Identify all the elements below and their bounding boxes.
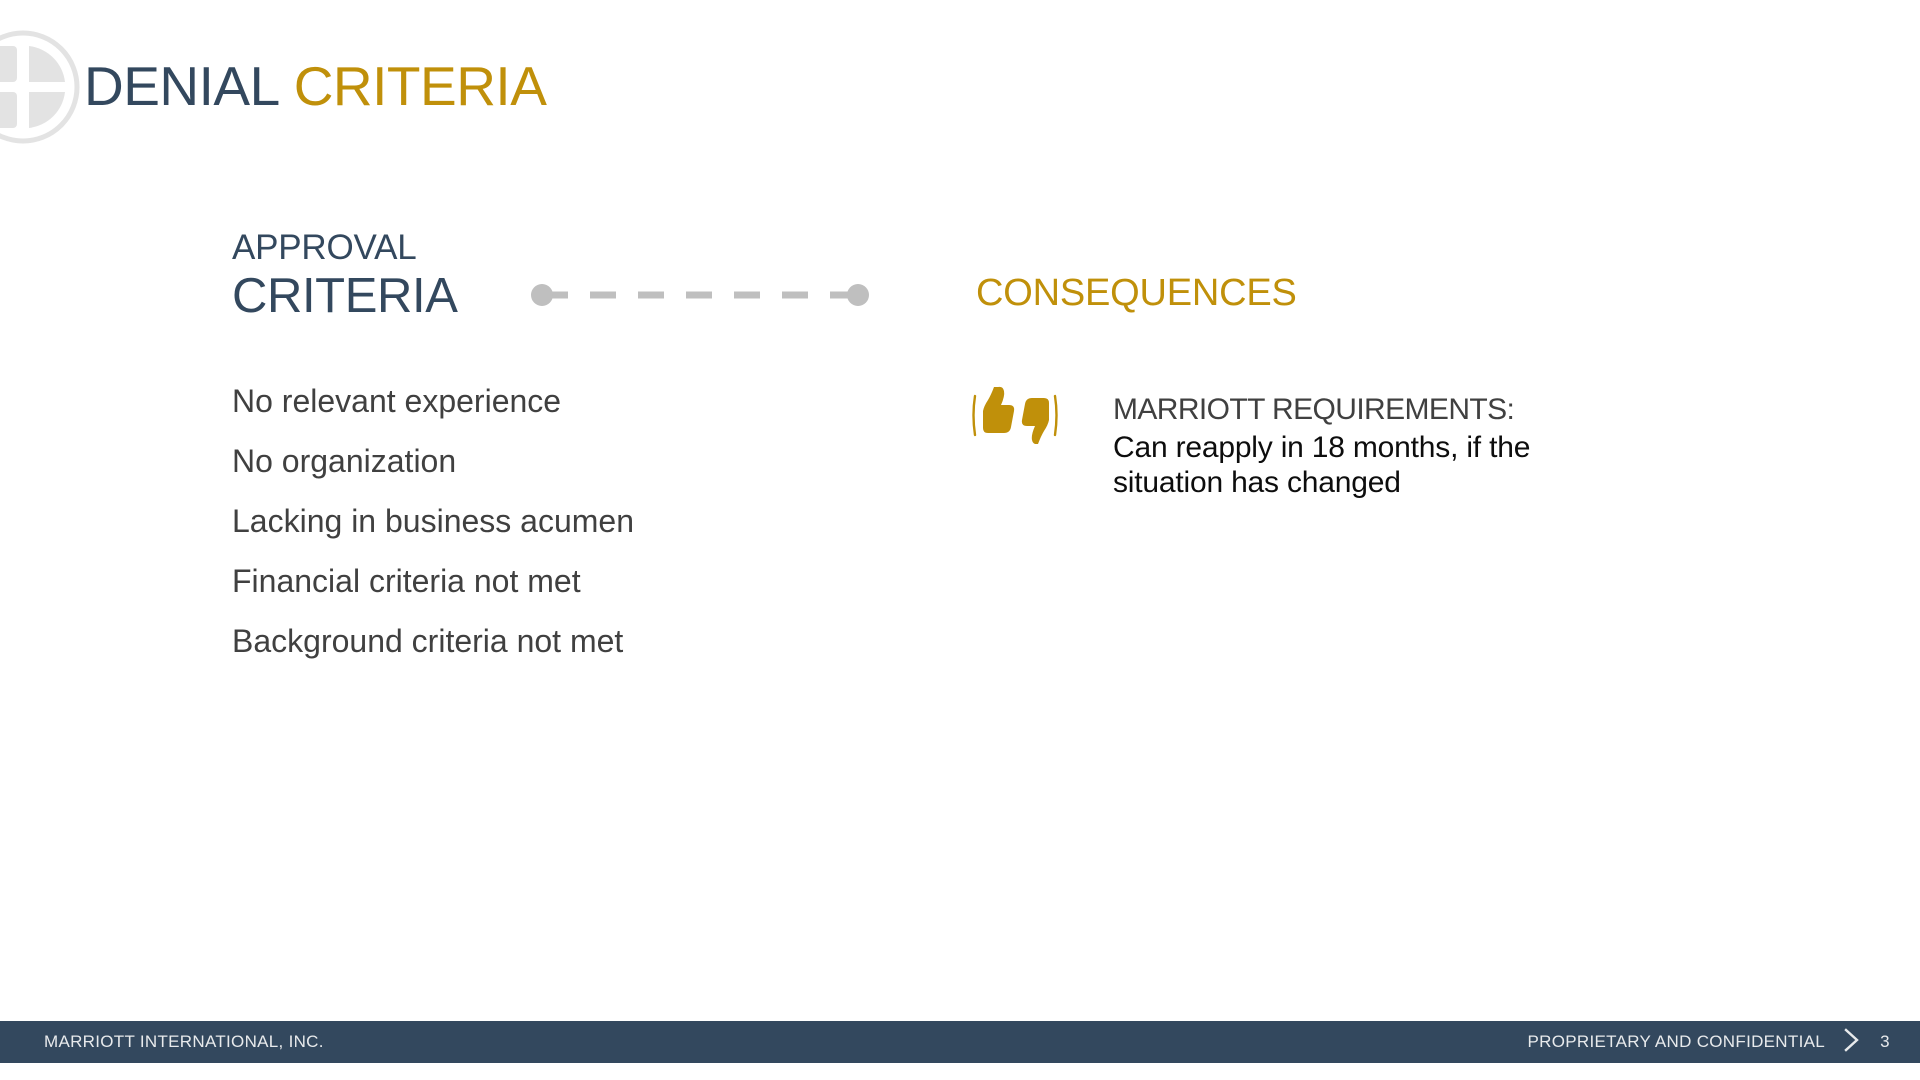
- footer-confidential-text: PROPRIETARY AND CONFIDENTIAL: [1528, 1032, 1825, 1052]
- slide-footer: MARRIOTT INTERNATIONAL, INC. PROPRIETARY…: [0, 1021, 1920, 1063]
- dashed-connector-icon: [530, 278, 870, 312]
- footer-right-group: PROPRIETARY AND CONFIDENTIAL 3: [1528, 1021, 1892, 1063]
- consequences-heading: CONSEQUENCES: [976, 272, 1297, 315]
- approval-eyebrow: APPROVAL: [232, 228, 692, 269]
- marriott-window-logo-icon: [0, 28, 82, 146]
- list-item: No relevant experience: [232, 385, 852, 417]
- page-title-accent: CRITERIA: [294, 55, 547, 117]
- list-item: Lacking in business acumen: [232, 505, 852, 537]
- thumbs-up-down-icon: [972, 386, 1058, 444]
- list-item: Background criteria not met: [232, 625, 852, 657]
- list-item: Financial criteria not met: [232, 565, 852, 597]
- slide-canvas: DENIALCRITERIA APPROVAL CRITERIA No rele…: [0, 0, 1920, 1080]
- denial-criteria-list: No relevant experience No organization L…: [232, 385, 852, 685]
- page-number: 3: [1878, 1032, 1892, 1052]
- footer-company-name: MARRIOTT INTERNATIONAL, INC.: [44, 1021, 324, 1063]
- requirements-label: MARRIOTT REQUIREMENTS:: [1113, 393, 1533, 428]
- chevron-right-icon: [1842, 1027, 1861, 1058]
- page-title-main: DENIAL: [84, 55, 280, 117]
- list-item: No organization: [232, 445, 852, 477]
- page-title: DENIALCRITERIA: [84, 58, 546, 116]
- consequence-detail: MARRIOTT REQUIREMENTS: Can reapply in 18…: [1113, 393, 1533, 500]
- requirements-body: Can reapply in 18 months, if the situati…: [1113, 430, 1533, 501]
